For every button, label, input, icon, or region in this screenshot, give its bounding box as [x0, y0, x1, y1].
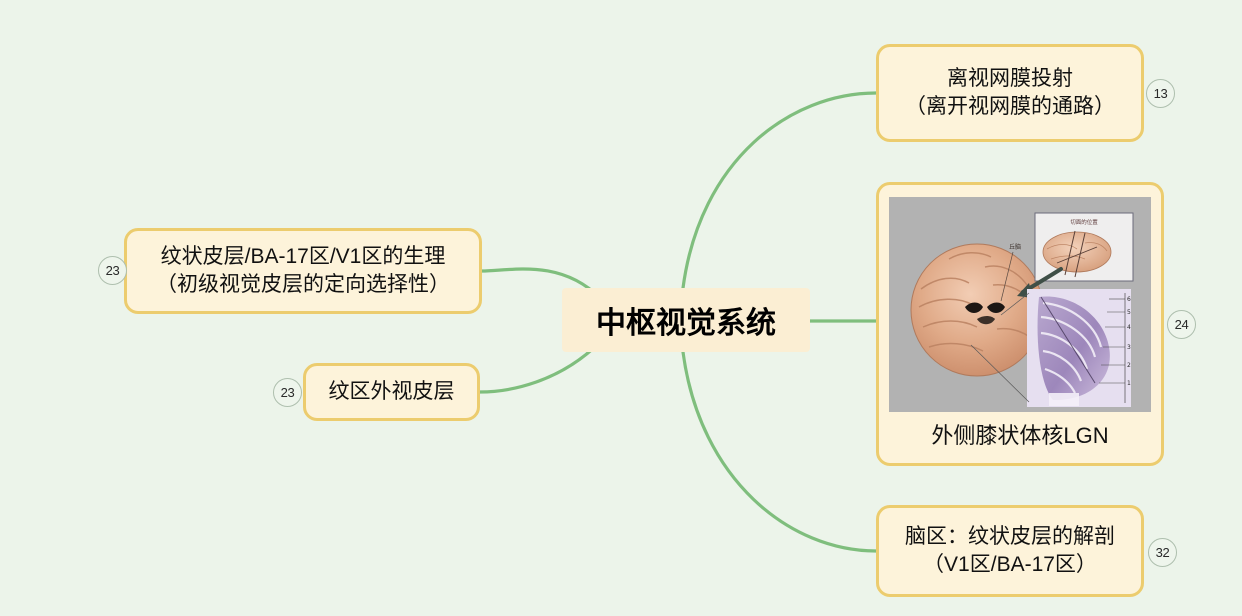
- lgn-histology-panel: 6 5 4 3 2 1: [1027, 289, 1131, 407]
- node-extrastriate-cortex[interactable]: 纹区外视皮层: [303, 363, 480, 421]
- badge-retinofugal-count[interactable]: 13: [1146, 79, 1175, 108]
- badge-extrastriate-count[interactable]: 23: [273, 378, 302, 407]
- brain-section-illustration: [911, 244, 1043, 376]
- svg-text:5: 5: [1127, 309, 1131, 316]
- node-lgn-label: 外侧膝状体核LGN: [931, 421, 1108, 450]
- lgn-brain-histology-figure: 丘脑 切面的位置: [889, 197, 1151, 412]
- node-striate-physiology-label: 纹状皮层/BA-17区/V1区的生理 （初级视觉皮层的定向选择性）: [142, 243, 464, 298]
- root-node[interactable]: 中枢视觉系统: [562, 288, 810, 352]
- svg-text:4: 4: [1127, 324, 1131, 331]
- svg-text:丘脑: 丘脑: [1009, 243, 1021, 251]
- edge-root-to-retinofugal: [683, 93, 876, 288]
- svg-text:3: 3: [1127, 344, 1131, 351]
- node-retinofugal-projection-label: 离视网膜投射 （离开视网膜的通路）: [891, 65, 1129, 120]
- node-extrastriate-cortex-label: 纹区外视皮层: [315, 378, 469, 406]
- svg-text:1: 1: [1127, 380, 1131, 387]
- badge-striate-physiology-count[interactable]: 23: [98, 256, 127, 285]
- svg-text:2: 2: [1127, 362, 1131, 369]
- edge-root-to-brain-anatomy: [683, 352, 876, 551]
- badge-lgn-count[interactable]: 24: [1167, 310, 1196, 339]
- badge-brain-anatomy-count[interactable]: 32: [1148, 538, 1177, 567]
- brain-inset-box: 切面的位置: [1035, 213, 1133, 281]
- node-brain-anatomy[interactable]: 脑区：纹状皮层的解剖 （V1区/BA-17区）: [876, 505, 1144, 597]
- svg-text:切面的位置: 切面的位置: [1070, 218, 1098, 226]
- node-striate-physiology[interactable]: 纹状皮层/BA-17区/V1区的生理 （初级视觉皮层的定向选择性）: [124, 228, 482, 314]
- node-retinofugal-projection[interactable]: 离视网膜投射 （离开视网膜的通路）: [876, 44, 1144, 142]
- node-brain-anatomy-label: 脑区：纹状皮层的解剖 （V1区/BA-17区）: [891, 523, 1129, 578]
- root-node-label: 中枢视觉系统: [582, 298, 790, 342]
- node-lgn[interactable]: 丘脑 切面的位置: [876, 182, 1164, 466]
- svg-text:6: 6: [1127, 296, 1131, 303]
- mindmap-canvas: 中枢视觉系统 离视网膜投射 （离开视网膜的通路） 13 纹状皮层/BA-17区/…: [0, 0, 1242, 616]
